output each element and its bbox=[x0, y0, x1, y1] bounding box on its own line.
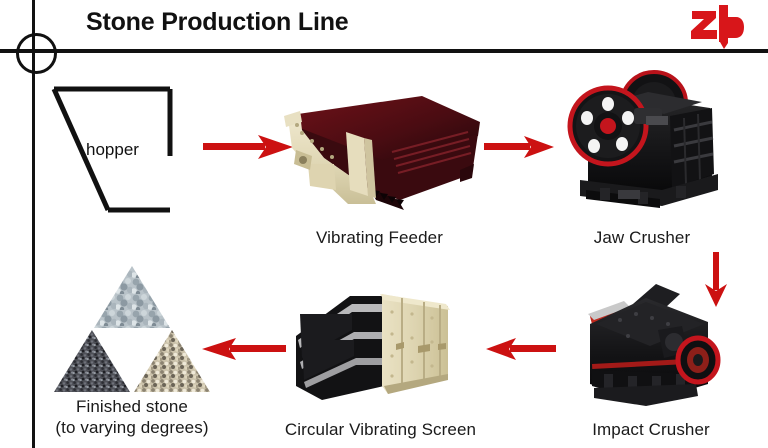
node-jaw-crusher-label: Jaw Crusher bbox=[552, 228, 732, 248]
node-hopper-label: hopper bbox=[86, 140, 139, 160]
diagram-canvas: Stone Production Line hopper bbox=[0, 0, 768, 448]
node-vibrating-feeder bbox=[272, 78, 487, 223]
registration-crosshair-vertical bbox=[32, 8, 35, 94]
finished-stone-label-line2: (to varying degrees) bbox=[55, 418, 208, 437]
arrow-screen-to-finished bbox=[200, 335, 286, 368]
page-title: Stone Production Line bbox=[86, 8, 348, 37]
company-logo-zb bbox=[686, 3, 746, 49]
node-impact-crusher-label: Impact Crusher bbox=[576, 420, 726, 440]
finished-stone-label-line1: Finished stone bbox=[76, 397, 188, 416]
node-finished-stone-label: Finished stone (to varying degrees) bbox=[36, 396, 228, 438]
node-jaw-crusher bbox=[552, 64, 732, 219]
arrow-feeder-to-jaw bbox=[484, 133, 556, 166]
node-vibrating-feeder-label: Vibrating Feeder bbox=[272, 228, 487, 248]
node-impact-crusher bbox=[576, 280, 726, 410]
node-vibrating-screen bbox=[288, 282, 468, 412]
node-finished-stone bbox=[52, 262, 212, 394]
registration-mark-icon bbox=[16, 33, 57, 74]
node-vibrating-screen-label: Circular Vibrating Screen bbox=[258, 420, 503, 440]
arrow-impact-to-screen bbox=[484, 335, 556, 368]
frame-horizontal-rule bbox=[0, 49, 768, 53]
registration-crosshair-horizontal bbox=[0, 49, 74, 52]
